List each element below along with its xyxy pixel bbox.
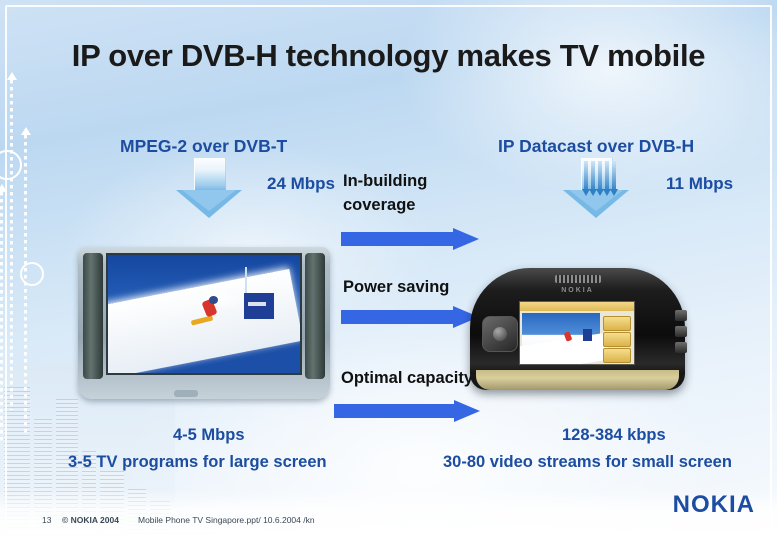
slide-page-number: 13 [42,515,51,525]
benefit-label-power-saving: Power saving [343,276,449,300]
presentation-slide: IP over DVB-H technology makes TV mobile… [0,0,777,537]
device-brand-label: NOKIA [548,287,608,294]
right-caption-detail: 30-80 video streams for small screen [443,453,732,472]
right-rate-label: 11 Mbps [666,174,733,194]
page-title: IP over DVB-H technology makes TV mobile [0,38,777,74]
file-info-text: Mobile Phone TV Singapore.ppt/ 10.6.2004… [138,515,315,525]
left-caption-rate: 4-5 Mbps [173,426,245,445]
right-caption-rate: 128-384 kbps [562,426,666,445]
nokia-multimedia-phone-image: NOKIA [470,268,685,390]
speaker-grill-icon [555,275,601,283]
benefit-line-1: In-building [343,170,427,194]
benefit-label-optimal-capacity: Optimal capacity [341,367,473,391]
right-arrow-icon-3 [334,400,480,422]
navigation-pad-icon [482,316,518,352]
right-arrow-icon-2 [341,306,479,328]
left-column-heading: MPEG-2 over DVB-T [120,136,287,157]
footer-bar: 13 © NOKIA 2004 Mobile Phone TV Singapor… [0,489,777,537]
right-arrow-icon-1 [341,228,479,250]
down-arrow-gradient-icon [176,158,242,220]
down-arrow-ip-packets-icon [563,158,629,220]
left-caption-detail: 3-5 TV programs for large screen [68,453,327,472]
nokia-logo: NOKIA [673,491,755,519]
copyright-text: © NOKIA 2004 [62,515,119,525]
benefit-line-2: coverage [343,194,427,218]
left-rate-label: 24 Mbps [267,174,335,194]
right-column-heading: IP Datacast over DVB-H [498,136,694,157]
benefit-label-in-building-coverage: In-building coverage [343,170,427,218]
flat-screen-tv-image [78,247,330,399]
